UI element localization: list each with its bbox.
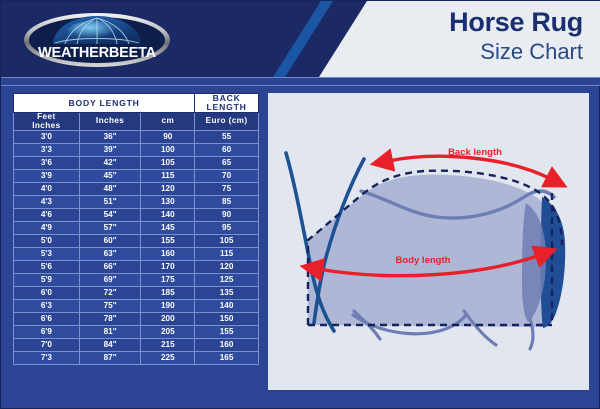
table-row: 7'084"215160 (14, 339, 259, 352)
body-length-label: Body length (396, 255, 451, 266)
table-cell: 7'3 (14, 352, 80, 365)
table-cell: 78" (79, 313, 141, 326)
table-cell: 115 (141, 170, 195, 183)
column-header-feet-inches-line2: Inches (14, 122, 79, 131)
table-cell: 5'6 (14, 261, 80, 274)
back-length-label: Back length (448, 147, 502, 158)
table-cell: 36" (79, 131, 141, 144)
table-cell: 72" (79, 287, 141, 300)
table-cell: 81" (79, 326, 141, 339)
table-cell: 95 (195, 222, 259, 235)
table-cell: 6'3 (14, 300, 80, 313)
table-row: 5'969"175125 (14, 274, 259, 287)
header-diagonal-accent (263, 1, 333, 77)
table-cell: 45" (79, 170, 141, 183)
table-cell: 5'0 (14, 235, 80, 248)
column-header-cm: cm (141, 113, 195, 131)
table-cell: 66" (79, 261, 141, 274)
table-row: 3'339"10060 (14, 144, 259, 157)
table-cell: 6'6 (14, 313, 80, 326)
table-row: 4'957"14595 (14, 222, 259, 235)
table-cell: 69" (79, 274, 141, 287)
table-cell: 84" (79, 339, 141, 352)
table-row: 4'351"13085 (14, 196, 259, 209)
table-cell: 135 (195, 287, 259, 300)
horse-rear-leg (530, 319, 533, 349)
logo-wordmark: WEATHERBEETA (38, 45, 157, 61)
table-cell: 5'9 (14, 274, 80, 287)
table-cell: 140 (195, 300, 259, 313)
table-cell: 115 (195, 248, 259, 261)
table-cell: 75" (79, 300, 141, 313)
table-row: 3'642"10565 (14, 157, 259, 170)
table-cell: 3'0 (14, 131, 80, 144)
table-cell: 140 (141, 209, 195, 222)
table-cell: 60" (79, 235, 141, 248)
table-cell: 3'9 (14, 170, 80, 183)
header-title-block: Horse Rug Size Chart (449, 9, 583, 63)
table-cell: 65 (195, 157, 259, 170)
table-cell: 87" (79, 352, 141, 365)
weatherbeeta-logo: WEATHERBEETA (23, 12, 171, 68)
table-row: 6'981"205155 (14, 326, 259, 339)
table-cell: 155 (141, 235, 195, 248)
table-cell: 70 (195, 170, 259, 183)
table-cell: 3'3 (14, 144, 80, 157)
table-cell: 125 (195, 274, 259, 287)
header-divider-strip (1, 77, 600, 86)
back-length-arrow (388, 156, 551, 179)
table-cell: 60 (195, 144, 259, 157)
table-cell: 3'6 (14, 157, 80, 170)
page-subtitle: Size Chart (449, 41, 583, 63)
size-table-container: BODY LENGTH BACK LENGTH Feet Inches Inch… (13, 93, 259, 365)
table-cell: 5'3 (14, 248, 80, 261)
table-cell: 90 (141, 131, 195, 144)
table-cell: 185 (141, 287, 195, 300)
table-cell: 200 (141, 313, 195, 326)
table-row: 5'666"170120 (14, 261, 259, 274)
table-cell: 160 (195, 339, 259, 352)
table-row: 6'072"185135 (14, 287, 259, 300)
table-cell: 90 (195, 209, 259, 222)
table-row: 5'060"155105 (14, 235, 259, 248)
table-cell: 100 (141, 144, 195, 157)
size-table-body: 3'036"90553'339"100603'642"105653'945"11… (14, 131, 259, 365)
page-header: WEATHERBEETA Horse Rug Size Chart (1, 1, 600, 77)
table-cell: 6'9 (14, 326, 80, 339)
table-cell: 120 (141, 183, 195, 196)
table-cell: 190 (141, 300, 195, 313)
group-header-back-length: BACK LENGTH (195, 94, 259, 113)
table-row: 5'363"160115 (14, 248, 259, 261)
size-table: BODY LENGTH BACK LENGTH Feet Inches Inch… (13, 93, 259, 365)
table-cell: 75 (195, 183, 259, 196)
column-header-feet-inches: Feet Inches (14, 113, 80, 131)
table-cell: 57" (79, 222, 141, 235)
table-row: 4'048"12075 (14, 183, 259, 196)
table-cell: 48" (79, 183, 141, 196)
table-cell: 225 (141, 352, 195, 365)
page-title: Horse Rug (449, 9, 583, 36)
table-cell: 175 (141, 274, 195, 287)
table-cell: 4'6 (14, 209, 80, 222)
table-row: 3'036"9055 (14, 131, 259, 144)
column-header-inches: Inches (79, 113, 141, 131)
table-cell: 150 (195, 313, 259, 326)
table-cell: 145 (141, 222, 195, 235)
table-cell: 85 (195, 196, 259, 209)
table-group-header-row: BODY LENGTH BACK LENGTH (14, 94, 259, 113)
table-cell: 54" (79, 209, 141, 222)
table-row: 3'945"11570 (14, 170, 259, 183)
table-cell: 105 (195, 235, 259, 248)
table-cell: 105 (141, 157, 195, 170)
table-cell: 120 (195, 261, 259, 274)
table-cell: 160 (141, 248, 195, 261)
table-cell: 130 (141, 196, 195, 209)
table-cell: 165 (195, 352, 259, 365)
table-cell: 4'3 (14, 196, 80, 209)
table-cell: 215 (141, 339, 195, 352)
table-cell: 7'0 (14, 339, 80, 352)
table-cell: 42" (79, 157, 141, 170)
table-cell: 170 (141, 261, 195, 274)
table-row: 6'678"200150 (14, 313, 259, 326)
table-cell: 4'9 (14, 222, 80, 235)
table-column-header-row: Feet Inches Inches cm Euro (cm) (14, 113, 259, 131)
group-header-body-length: BODY LENGTH (14, 94, 195, 113)
table-row: 6'375"190140 (14, 300, 259, 313)
table-row: 4'654"14090 (14, 209, 259, 222)
table-cell: 63" (79, 248, 141, 261)
table-cell: 205 (141, 326, 195, 339)
table-cell: 6'0 (14, 287, 80, 300)
table-cell: 155 (195, 326, 259, 339)
horse-measurement-diagram: Back length Body length (268, 93, 589, 390)
table-cell: 39" (79, 144, 141, 157)
size-chart-page: WEATHERBEETA Horse Rug Size Chart BODY L… (0, 0, 600, 409)
table-cell: 51" (79, 196, 141, 209)
table-cell: 4'0 (14, 183, 80, 196)
column-header-euro-cm: Euro (cm) (195, 113, 259, 131)
table-cell: 55 (195, 131, 259, 144)
table-row: 7'387"225165 (14, 352, 259, 365)
